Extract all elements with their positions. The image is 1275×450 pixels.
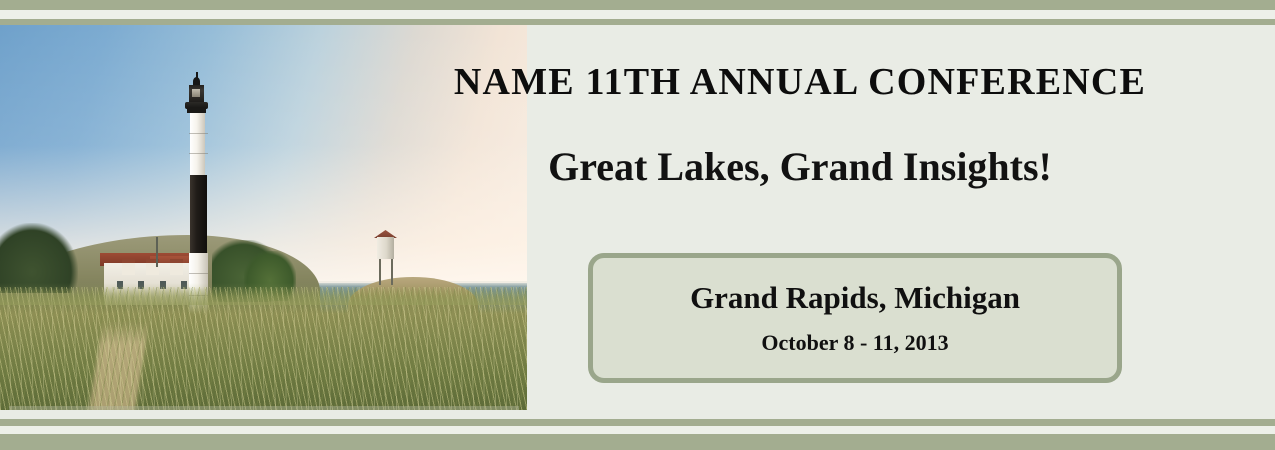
tower-seam [189,133,208,134]
antenna-mast [156,237,158,267]
lighthouse-band-black [190,175,207,253]
conference-banner: “Big Sable Point Lighthouse on Lake Mich… [0,0,1275,450]
house-dormer [122,259,135,275]
bottom-rule-band-gap [0,426,1275,434]
tower-seam [189,273,208,274]
bottom-rule-band-secondary [0,434,1275,450]
house-dormer [170,259,183,275]
bottom-rule-band-primary [0,419,1275,426]
top-rule-band-gap [0,10,1275,19]
conference-headline: NAME 11TH ANNUAL CONFERENCE [360,60,1240,104]
conference-theme: Great Lakes, Grand Insights! [360,143,1240,190]
lighthouse-band-white-upper [190,113,205,175]
water-tower-leg [379,259,381,285]
dune-grass-highlight [0,293,527,353]
top-rule-band-primary [0,0,1275,10]
photo-caption-bar: “Big Sable Point Lighthouse on Lake Mich… [9,406,519,410]
tower-seam [189,153,208,154]
location-date-box: Grand Rapids, Michigan October 8 - 11, 2… [588,253,1122,383]
water-tower-leg [391,259,393,285]
conference-dates: October 8 - 11, 2013 [761,330,948,356]
lighthouse-lens-glass [192,89,200,97]
conference-city: Grand Rapids, Michigan [690,280,1020,316]
water-tower-tank [377,237,394,259]
